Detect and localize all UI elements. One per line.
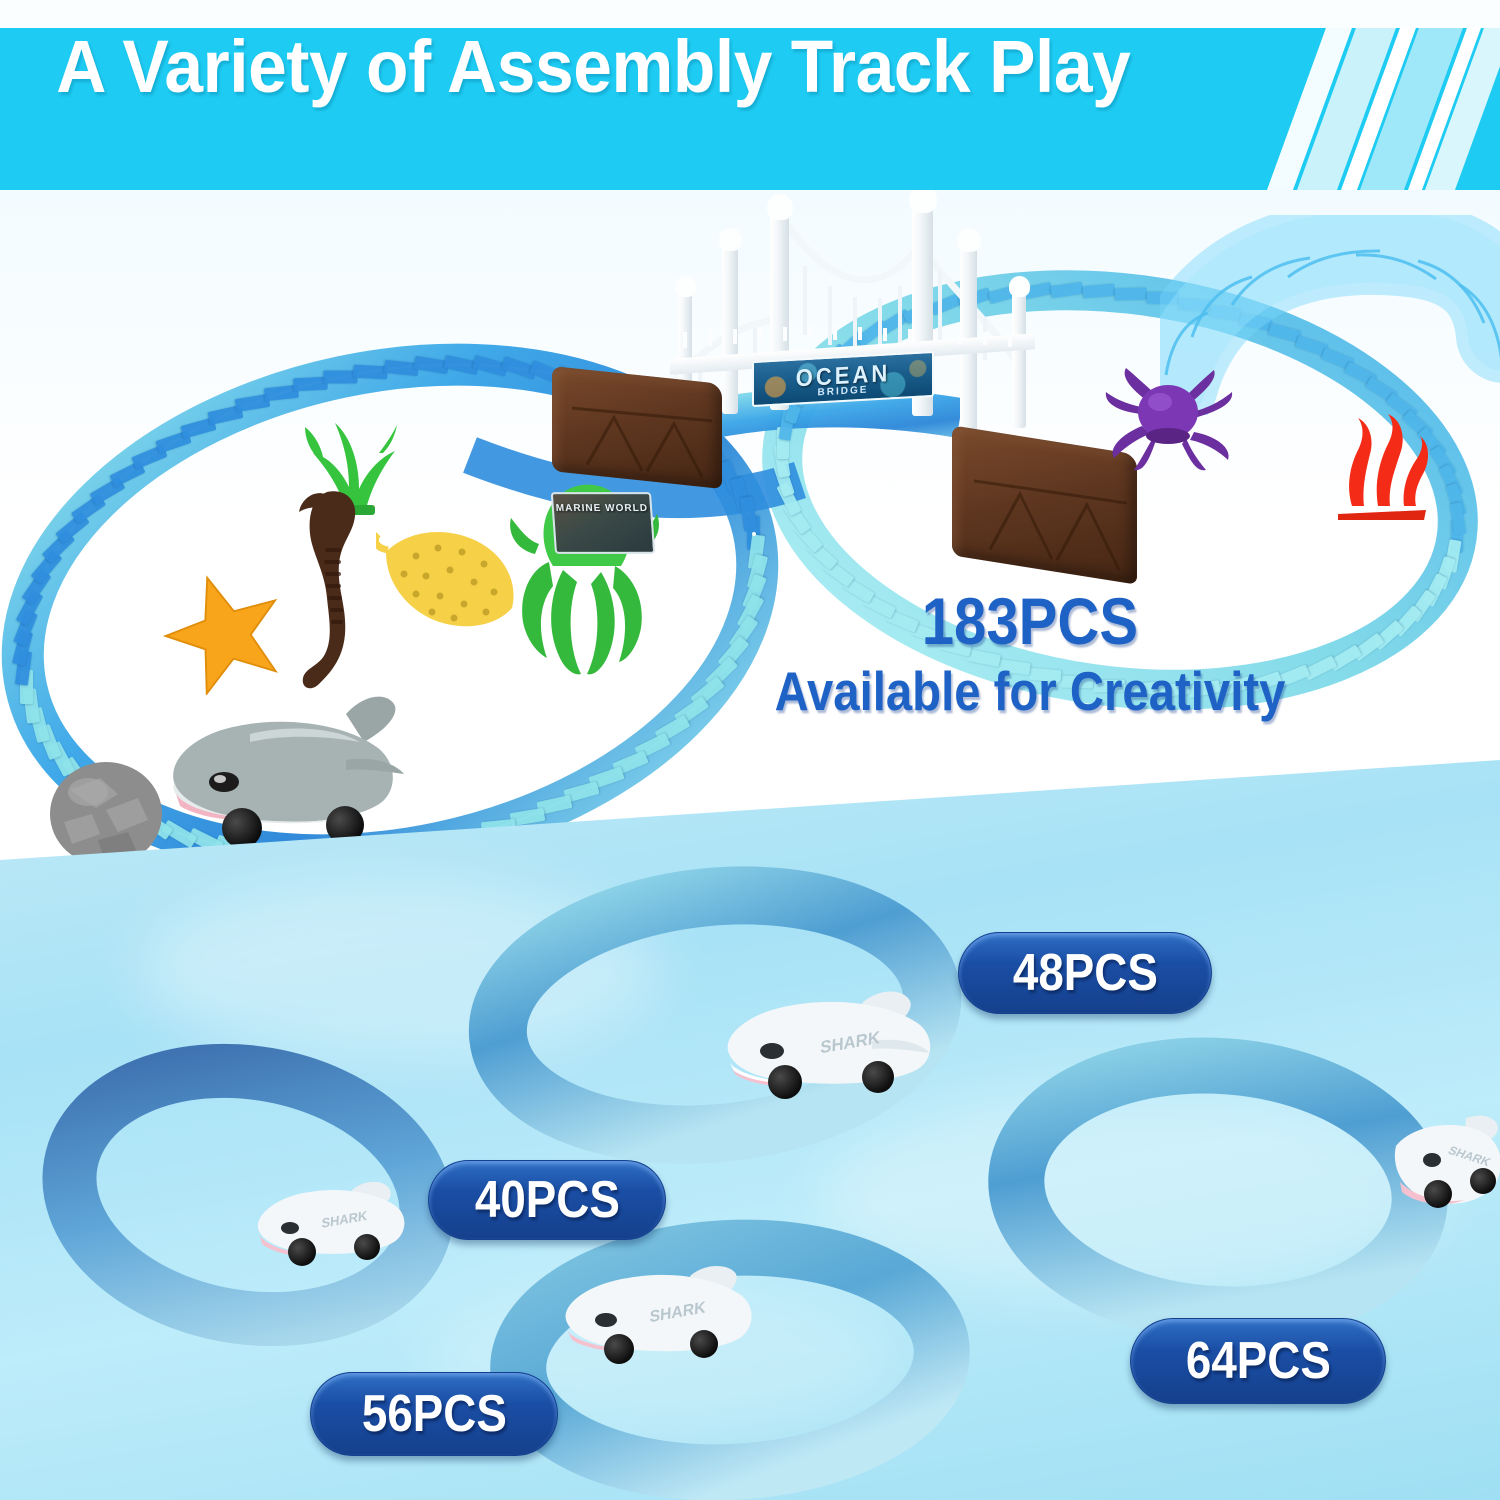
header-banner: A Variety of Assembly Track Play <box>0 28 1500 190</box>
red-coral-accessory <box>1330 410 1430 520</box>
shark-car-wheel <box>288 1238 316 1266</box>
marine-world-sign-text: MARINE WORLD <box>555 503 648 514</box>
badge-40pcs-label: 40PCS <box>474 1170 619 1230</box>
badge-56pcs[interactable]: 56PCS <box>310 1372 558 1456</box>
green-octopus-gate: MARINE WORLD <box>505 470 665 730</box>
bridge-tower-cap <box>675 276 696 297</box>
bridge-tower-cap <box>767 194 793 220</box>
track-tooth <box>1115 287 1147 300</box>
banner-title-text: A Variety of Assembly Track Play <box>56 28 1130 109</box>
headline-count: 183PCS <box>710 588 1350 654</box>
badge-56pcs-label: 56PCS <box>361 1384 506 1444</box>
badge-64pcs[interactable]: 64PCS <box>1130 1318 1386 1404</box>
shark-car-white-64: SHARK <box>1370 1112 1500 1222</box>
bridge-tower <box>1012 288 1026 428</box>
marine-world-sign: MARINE WORLD <box>551 492 656 554</box>
headline-tagline-text: Available for Creativity <box>775 664 1286 719</box>
bridge-railing <box>675 320 1030 350</box>
product-infographic: A Variety of Assembly Track Play <box>0 0 1500 1500</box>
headline-tagline: Available for Creativity <box>710 664 1350 719</box>
headline-block: 183PCS Available for Creativity <box>710 588 1350 719</box>
badge-64pcs-label: 64PCS <box>1185 1331 1330 1391</box>
bridge-tower-cap <box>1009 276 1030 297</box>
bridge-tower-cap <box>719 228 742 251</box>
shark-car-white-48: SHARK <box>712 985 942 1105</box>
shark-car-white-40: SHARK <box>246 1176 411 1276</box>
stingray-accessory <box>376 522 526 644</box>
shark-car-wheel <box>604 1334 634 1364</box>
badge-48pcs-label: 48PCS <box>1012 943 1157 1003</box>
shark-car-white-56: SHARK <box>552 1260 762 1370</box>
shark-car-wheel <box>768 1065 802 1099</box>
banner-title: A Variety of Assembly Track Play <box>22 67 1165 152</box>
shark-car-wheel <box>222 808 262 848</box>
bridge-tower-cap <box>957 228 981 252</box>
shark-car-grey <box>150 690 410 850</box>
starfish-accessory <box>160 570 290 695</box>
seahorse-accessory <box>285 478 377 698</box>
badge-40pcs[interactable]: 40PCS <box>428 1160 666 1240</box>
shark-car-wheel <box>690 1330 718 1358</box>
track-tooth <box>353 364 388 379</box>
shark-car-wheel <box>862 1061 894 1093</box>
headline-count-text: 183PCS <box>922 588 1138 654</box>
ocean-bridge-sign <box>752 532 756 536</box>
shark-car-wheel <box>1470 1168 1496 1194</box>
shark-car-wheel <box>354 1234 380 1260</box>
shark-car-wheel <box>1424 1180 1452 1208</box>
badge-48pcs[interactable]: 48PCS <box>958 932 1212 1014</box>
purple-octopus-accessory <box>1098 360 1243 475</box>
bridge-tower-cap <box>909 190 937 213</box>
